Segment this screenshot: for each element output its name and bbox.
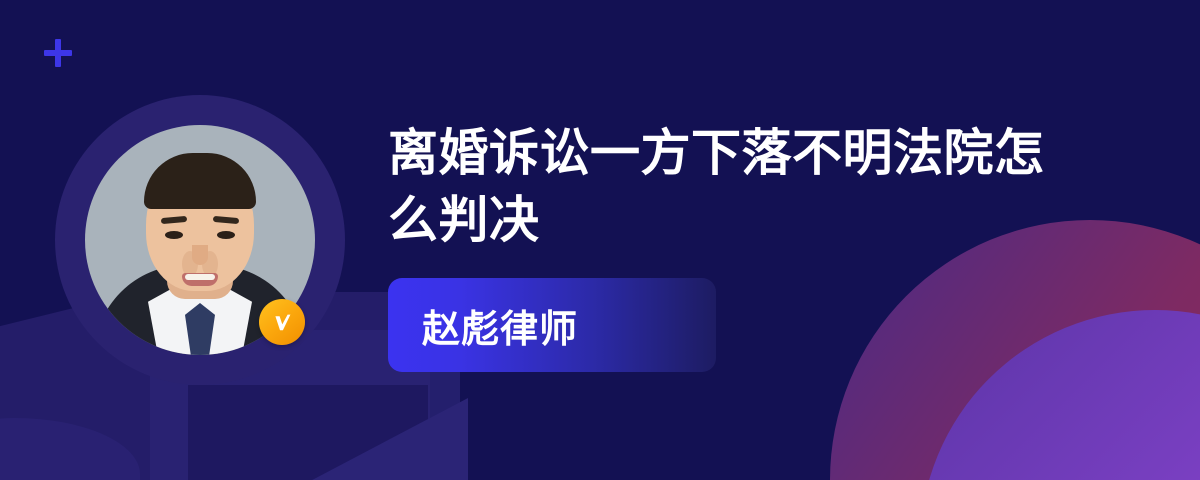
verified-badge-icon <box>259 299 305 345</box>
portrait-eye-left <box>165 231 183 239</box>
portrait-teeth <box>185 274 215 280</box>
content-column: 离婚诉讼一方下落不明法院怎么判决 赵彪律师 <box>388 120 1178 372</box>
lawyer-qa-banner: 离婚诉讼一方下落不明法院怎么判决 赵彪律师 <box>0 0 1200 480</box>
portrait-mouth <box>182 273 218 286</box>
background-wedge-shape <box>278 398 468 480</box>
page-title: 离婚诉讼一方下落不明法院怎么判决 <box>388 120 1078 254</box>
portrait-nose <box>192 245 208 265</box>
background-wedge-shape <box>188 385 428 480</box>
background-wedge-shape <box>0 418 140 480</box>
portrait-eye-right <box>217 231 235 239</box>
avatar <box>55 95 345 385</box>
portrait-hair <box>144 153 256 209</box>
plus-icon <box>44 39 72 67</box>
author-button[interactable]: 赵彪律师 <box>388 278 716 372</box>
